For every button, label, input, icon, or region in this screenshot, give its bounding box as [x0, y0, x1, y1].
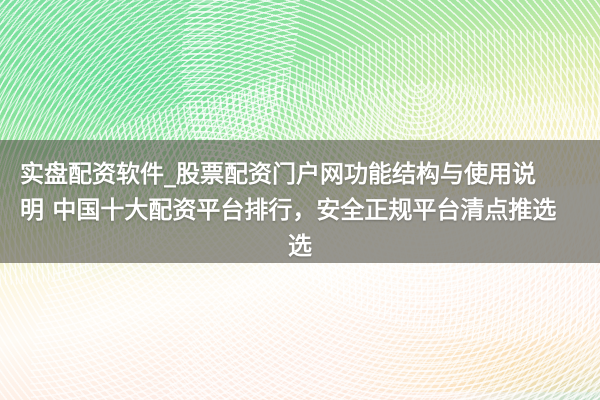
background-amber-haze — [270, 264, 600, 392]
banner-headline: 实盘配资软件_股票配资门户网功能结构与使用说 明 中国十大配资平台排行，安全正规… — [0, 140, 600, 264]
headline-line-1: 实盘配资软件_股票配资门户网功能结构与使用说 — [20, 140, 580, 192]
banner-image: 实盘配资软件_股票配资门户网功能结构与使用说 明 中国十大配资平台排行，安全正规… — [0, 0, 600, 400]
headline-line-3: 选 — [20, 228, 580, 264]
headline-line-2: 明 中国十大配资平台排行，安全正规平台清点推选 — [20, 192, 580, 228]
